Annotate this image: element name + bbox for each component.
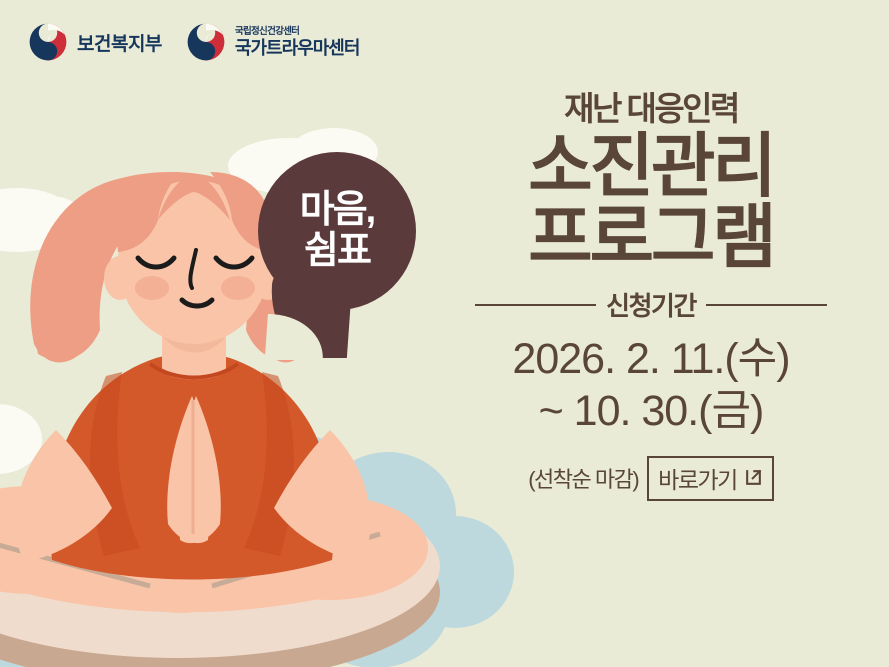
promo-banner: 보건복지부 국립정신건강센터 국가트라우마센터: [0, 0, 889, 667]
start-date-text: 2026. 2. 11.(수): [475, 333, 827, 385]
trauma-center-label: 국가트라우마센터: [235, 39, 359, 57]
logo-bar: 보건복지부 국립정신건강센터 국가트라우마센터: [28, 22, 359, 62]
cta-row: (선착순 마감) 바로가기: [475, 456, 827, 501]
headline-line-2: 프로그램: [475, 204, 827, 271]
go-to-link-button[interactable]: 바로가기: [647, 456, 774, 501]
external-link-icon: [744, 468, 763, 487]
speech-bubble: 마음, 쉼표: [258, 152, 416, 310]
divider-rule-right: [706, 304, 827, 306]
application-period-divider: 신청기간: [475, 286, 827, 323]
meditating-woman-illustration: [0, 0, 520, 667]
ministry-logo-label: 보건복지부: [77, 29, 162, 56]
national-trauma-center-logo: 국립정신건강센터 국가트라우마센터: [186, 22, 359, 62]
trauma-center-parent-label: 국립정신건강센터: [235, 27, 359, 37]
end-date-text: ~ 10. 30.(금): [475, 385, 827, 437]
taegeuk-icon: [186, 22, 226, 62]
first-come-first-served-note: (선착순 마감): [528, 462, 638, 494]
kicker-text: 재난 대응인력: [475, 92, 827, 125]
promo-text-column: 재난 대응인력 소진관리 프로그램 신청기간 2026. 2. 11.(수) ~…: [475, 92, 827, 501]
headline-line-1: 소진관리: [475, 133, 827, 200]
trauma-center-logo-labels: 국립정신건강센터 국가트라우마센터: [235, 27, 359, 57]
taegeuk-icon: [28, 22, 68, 62]
speech-bubble-line-2: 쉼표: [304, 231, 370, 272]
application-period-label: 신청기간: [606, 286, 696, 323]
speech-bubble-line-1: 마음,: [300, 190, 374, 231]
ministry-of-health-and-welfare-logo: 보건복지부: [28, 22, 162, 62]
go-to-link-label: 바로가기: [658, 461, 737, 495]
divider-rule-left: [475, 304, 596, 306]
